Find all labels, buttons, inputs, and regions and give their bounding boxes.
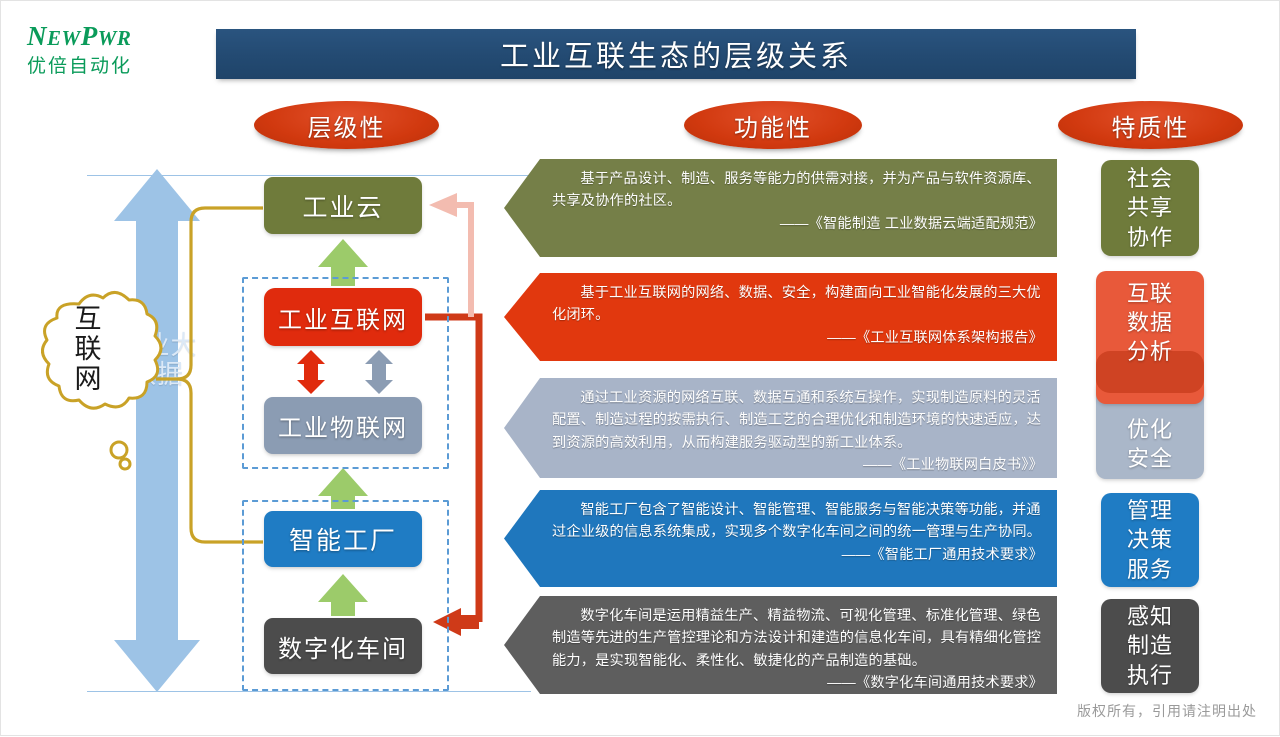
trait-line: 共享: [1127, 193, 1173, 222]
level-box-industrial-cloud[interactable]: 工业云: [264, 177, 422, 234]
logo-subtitle: 优倍自动化: [27, 57, 207, 76]
description-industrial-cloud: 基于产品设计、制造、服务等能力的供需对接，并为产品与软件资源库、共享及协作的社区…: [504, 159, 1057, 257]
trait-line: 优化: [1127, 415, 1173, 444]
trait-line: 互联: [1127, 279, 1173, 308]
trait-line: 服务: [1127, 555, 1173, 584]
description-body: 通过工业资源的网络互联、数据互通和系统互操作，实现制造原料的灵活配置、制造过程的…: [552, 387, 1043, 454]
description-source: ——《工业物联网白皮书》》: [552, 454, 1043, 476]
internet-cloud-label: 互联网: [67, 304, 109, 395]
description-source: ——《数字化车间通用技术要求》: [552, 672, 1043, 694]
description-source: ——《智能工厂通用技术要求》: [552, 544, 1043, 566]
level-box-digital-workshop[interactable]: 数字化车间: [264, 618, 422, 674]
description-industrial-iot: 通过工业资源的网络互联、数据互通和系统互操作，实现制造原料的灵活配置、制造过程的…: [504, 378, 1057, 478]
level-box-industrial-iot[interactable]: 工业物联网: [264, 397, 422, 454]
trait-line: 感知: [1127, 602, 1173, 631]
column-caption-level: 层级性: [254, 101, 439, 149]
description-source: ——《智能制造 工业数据云端适配规范》: [552, 213, 1043, 235]
level-box-industrial-internet[interactable]: 工业互联网: [264, 288, 422, 346]
level-box-smart-factory[interactable]: 智能工厂: [264, 511, 422, 567]
column-caption-trait: 特质性: [1058, 101, 1243, 149]
slide-canvas: NEWPWR 优倍自动化 工业互联生态的层级关系 层级性 功能性 特质性 工业大…: [0, 0, 1280, 736]
description-digital-workshop: 数字化车间是运用精益生产、精益物流、可视化管理、标准化管理、绿色制造等先进的生产…: [504, 596, 1057, 694]
trait-line: 分析: [1127, 337, 1173, 366]
trait-line: 协作: [1127, 223, 1173, 252]
trait-box-social[interactable]: 社会 共享 协作: [1101, 160, 1199, 256]
description-body: 数字化车间是运用精益生产、精益物流、可视化管理、标准化管理、绿色制造等先进的生产…: [552, 605, 1043, 672]
description-body: 基于产品设计、制造、服务等能力的供需对接，并为产品与软件资源库、共享及协作的社区…: [552, 168, 1043, 213]
title-bar: 工业互联生态的层级关系: [216, 29, 1136, 79]
trait-line: 社会: [1127, 164, 1173, 193]
description-industrial-internet: 基于工业互联网的网络、数据、安全，构建面向工业智能化发展的三大优化闭环。 ——《…: [504, 273, 1057, 361]
description-body: 智能工厂包含了智能设计、智能管理、智能服务与智能决策等功能，并通过企业级的信息系…: [552, 499, 1043, 544]
trait-line: 制造: [1127, 631, 1173, 660]
trait-box-sensing[interactable]: 感知 制造 执行: [1101, 599, 1199, 693]
description-smart-factory: 智能工厂包含了智能设计、智能管理、智能服务与智能决策等功能，并通过企业级的信息系…: [504, 490, 1057, 587]
description-source: ——《工业互联网体系架构报告》: [552, 327, 1043, 349]
column-caption-function: 功能性: [684, 101, 862, 149]
trait-line: 执行: [1127, 661, 1173, 690]
trait-line: 决策: [1127, 525, 1173, 554]
trait-box-connectivity[interactable]: 互联 数据 分析: [1096, 271, 1204, 404]
description-body: 基于工业互联网的网络、数据、安全，构建面向工业智能化发展的三大优化闭环。: [552, 282, 1043, 327]
copyright-footer: 版权所有，引用请注明出处: [1077, 701, 1257, 721]
trait-line: 数据: [1127, 308, 1173, 337]
brand-logo: NEWPWR 优倍自动化: [27, 23, 207, 76]
trait-line: 安全: [1127, 444, 1173, 473]
trait-line: 管理: [1127, 496, 1173, 525]
trait-box-management[interactable]: 管理 决策 服务: [1101, 493, 1199, 587]
logo-wordmark: NEWPWR: [27, 23, 207, 50]
page-title: 工业互联生态的层级关系: [216, 29, 1136, 79]
